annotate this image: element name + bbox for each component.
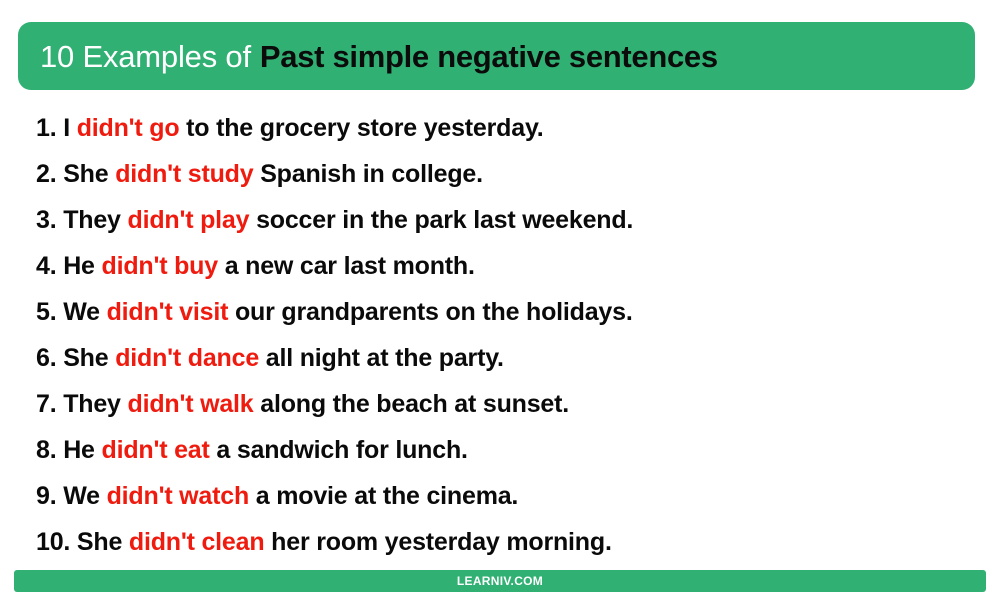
list-item-subject: She — [77, 528, 122, 556]
list-item-predicate: her room yesterday morning. — [271, 528, 612, 556]
list-item: 4. He didn't buy a new car last month. — [36, 243, 976, 289]
list-item-negative-verb: didn't visit — [107, 298, 229, 326]
list-item: 7. They didn't walk along the beach at s… — [36, 381, 976, 427]
list-item-subject: He — [63, 436, 95, 464]
list-item-subject: She — [63, 344, 108, 372]
infographic-page: 10 Examples of Past simple negative sent… — [0, 0, 1000, 600]
list-item: 2. She didn't study Spanish in college. — [36, 151, 976, 197]
list-item-predicate: soccer in the park last weekend. — [256, 206, 633, 234]
list-item-number: 2. — [36, 160, 56, 188]
list-item-negative-verb: didn't clean — [129, 528, 265, 556]
list-item: 9. We didn't watch a movie at the cinema… — [36, 473, 976, 519]
list-item-predicate: a movie at the cinema. — [256, 482, 518, 510]
list-item-number: 1. — [36, 114, 56, 142]
list-item-predicate: a sandwich for lunch. — [216, 436, 467, 464]
list-item: 10. She didn't clean her room yesterday … — [36, 519, 976, 565]
list-item-predicate: all night at the party. — [266, 344, 504, 372]
list-item-predicate: along the beach at sunset. — [260, 390, 569, 418]
list-item-number: 4. — [36, 252, 56, 280]
list-item-number: 6. — [36, 344, 56, 372]
sentence-list: 1. I didn't go to the grocery store yest… — [36, 105, 976, 565]
list-item-negative-verb: didn't play — [128, 206, 250, 234]
list-item-negative-verb: didn't buy — [102, 252, 218, 280]
footer-banner: LEARNIV.COM — [14, 570, 986, 592]
list-item-subject: I — [63, 114, 70, 142]
list-item-subject: She — [63, 160, 108, 188]
list-item-number: 10. — [36, 528, 70, 556]
header-count-label: 10 Examples of — [40, 41, 251, 72]
list-item-negative-verb: didn't walk — [128, 390, 254, 418]
list-item-negative-verb: didn't watch — [107, 482, 249, 510]
header-banner: 10 Examples of Past simple negative sent… — [18, 22, 975, 90]
list-item-number: 5. — [36, 298, 56, 326]
list-item-subject: They — [63, 206, 121, 234]
list-item-predicate: to the grocery store yesterday. — [186, 114, 543, 142]
list-item-number: 8. — [36, 436, 56, 464]
list-item-subject: He — [63, 252, 95, 280]
list-item: 5. We didn't visit our grandparents on t… — [36, 289, 976, 335]
list-item-predicate: our grandparents on the holidays. — [235, 298, 633, 326]
list-item-negative-verb: didn't go — [77, 114, 180, 142]
list-item: 3. They didn't play soccer in the park l… — [36, 197, 976, 243]
footer-site-label: LEARNIV.COM — [457, 575, 543, 587]
list-item: 1. I didn't go to the grocery store yest… — [36, 105, 976, 151]
header-topic-label: Past simple negative sentences — [260, 41, 718, 72]
list-item-subject: We — [63, 298, 100, 326]
list-item-subject: We — [63, 482, 100, 510]
list-item-number: 9. — [36, 482, 56, 510]
list-item-negative-verb: didn't dance — [115, 344, 259, 372]
list-item: 8. He didn't eat a sandwich for lunch. — [36, 427, 976, 473]
list-item-negative-verb: didn't study — [115, 160, 253, 188]
list-item-number: 7. — [36, 390, 56, 418]
list-item-number: 3. — [36, 206, 56, 234]
list-item-predicate: a new car last month. — [225, 252, 475, 280]
list-item-subject: They — [63, 390, 121, 418]
list-item-negative-verb: didn't eat — [102, 436, 210, 464]
list-item-predicate: Spanish in college. — [260, 160, 483, 188]
list-item: 6. She didn't dance all night at the par… — [36, 335, 976, 381]
